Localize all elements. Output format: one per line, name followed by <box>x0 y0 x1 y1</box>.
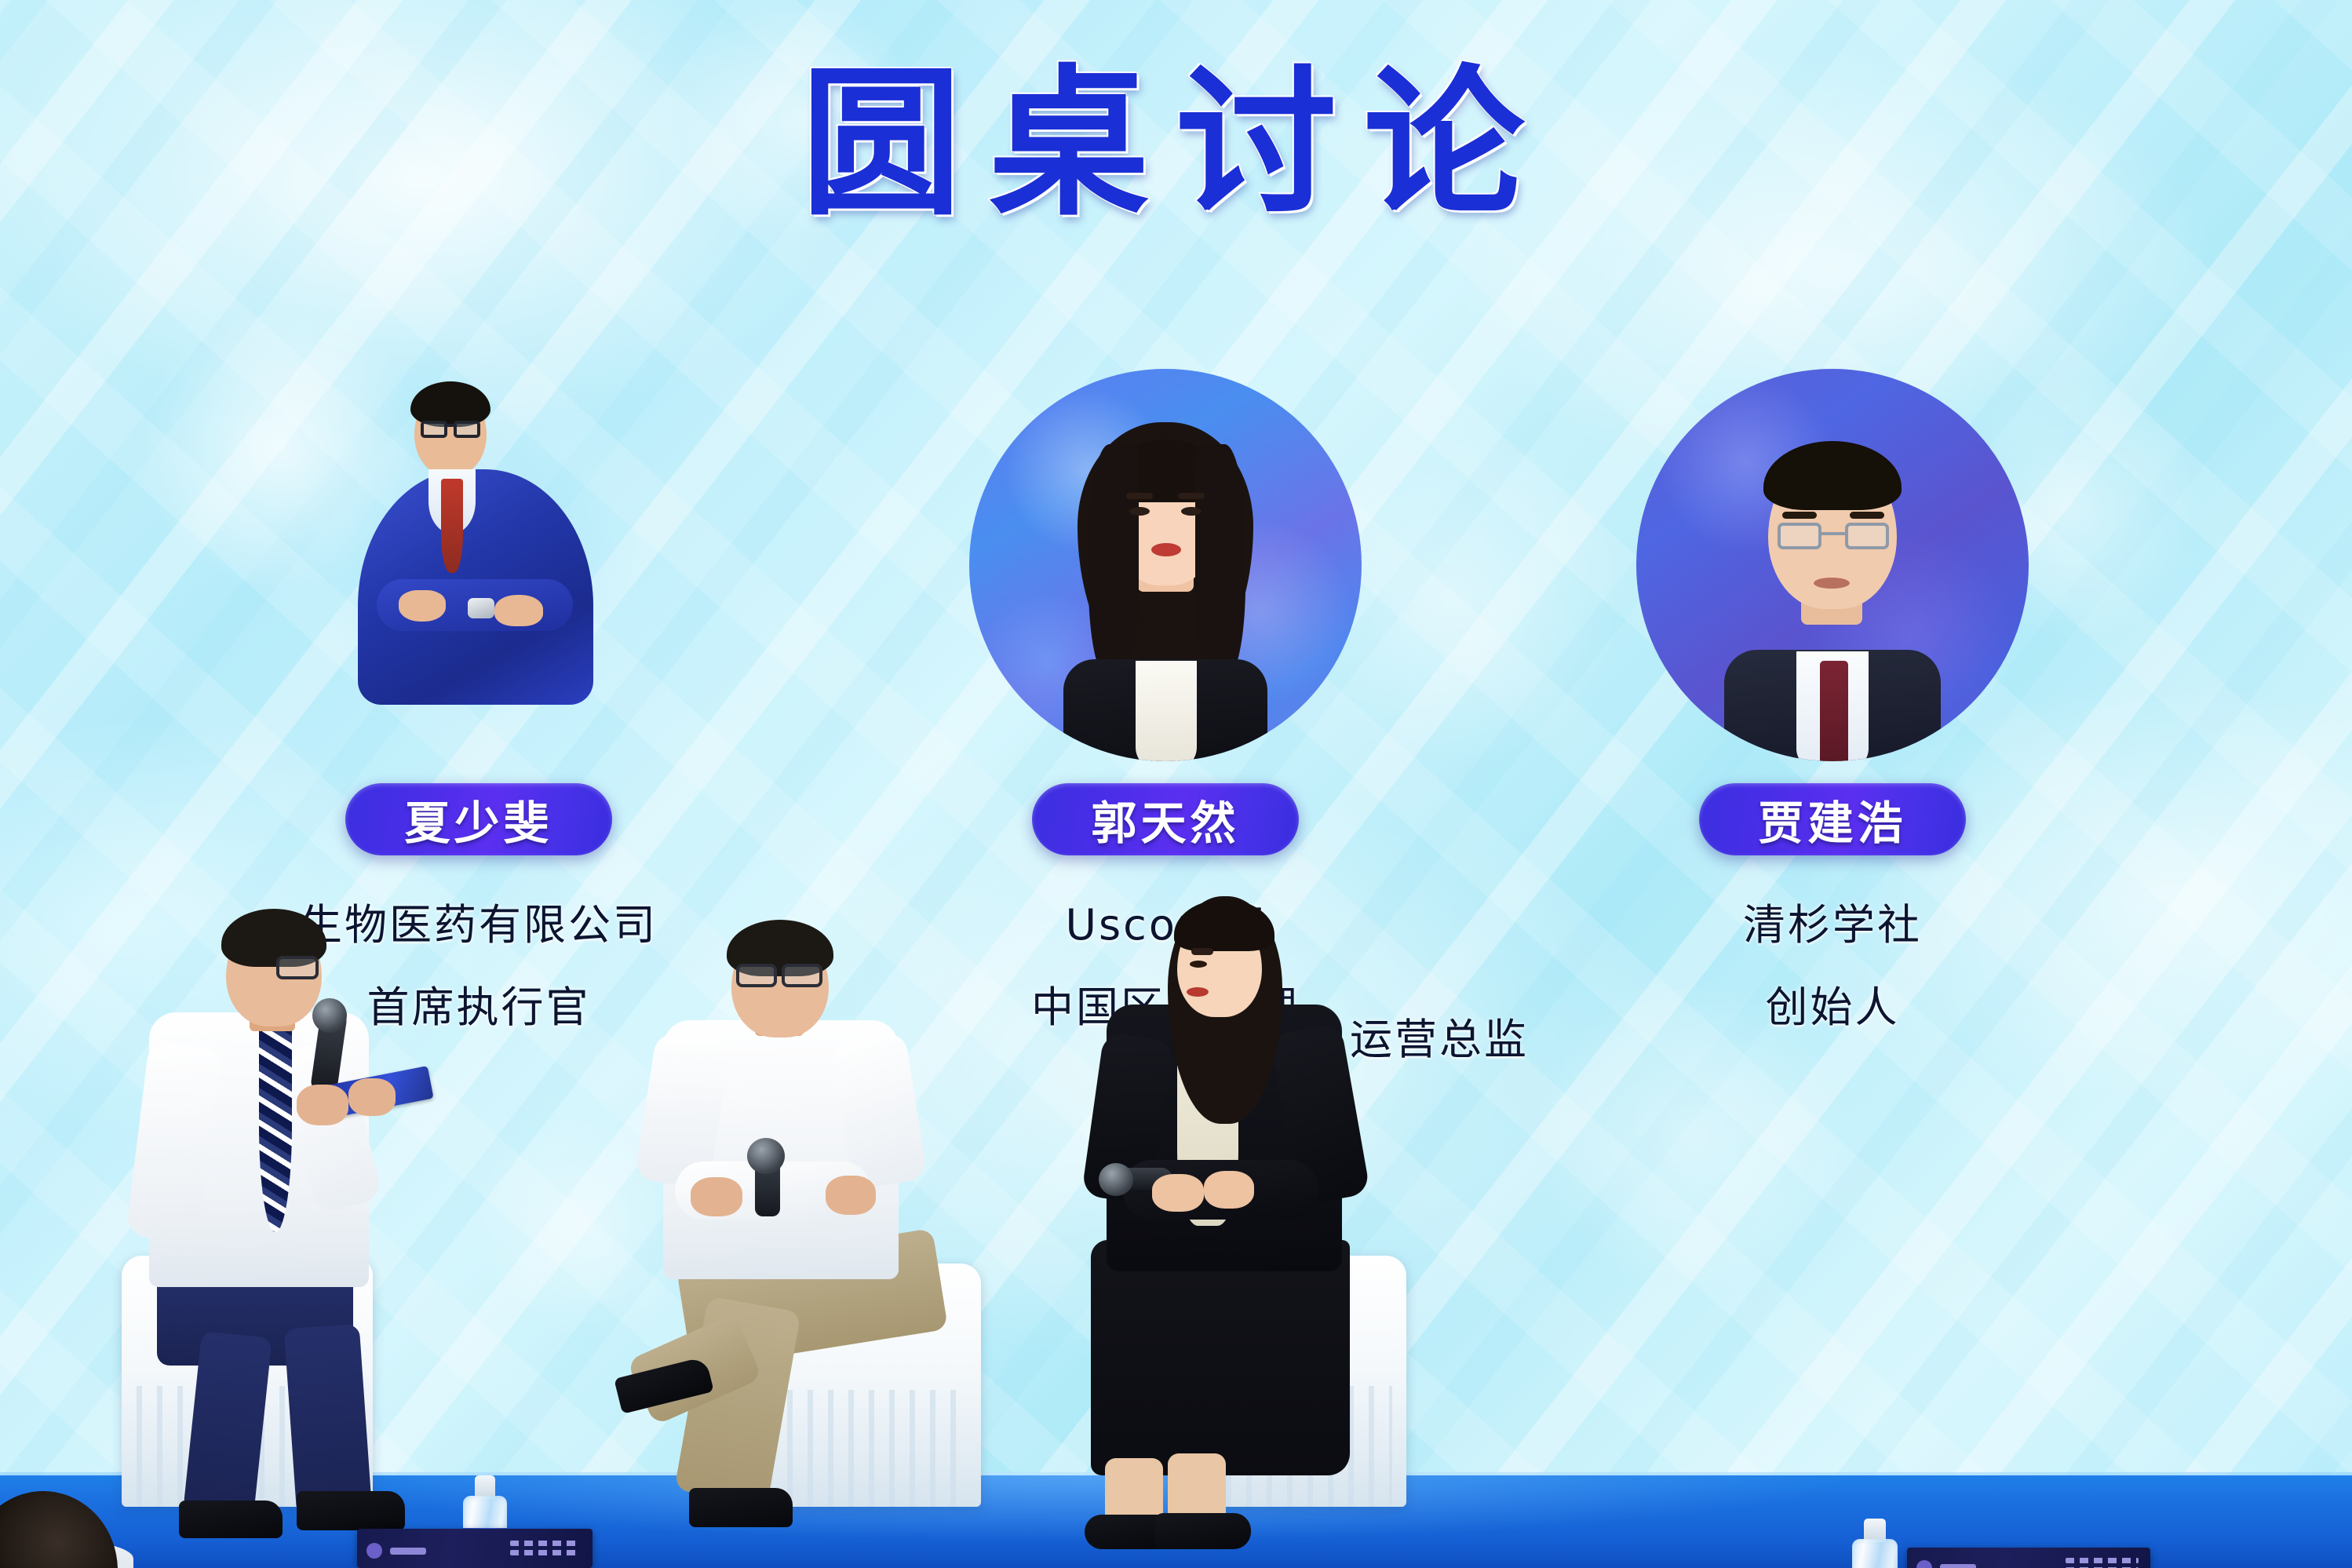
panelist1-hand-left <box>691 1177 742 1216</box>
panelist2-eye <box>1190 961 1207 968</box>
avatar-1 <box>969 369 1362 761</box>
speaker-name-2: 贾建浩 <box>1758 786 1906 852</box>
speaker-name-1: 郭天然 <box>1091 786 1239 852</box>
panelist2-microphone-head <box>1099 1163 1133 1196</box>
portrait2-glasses-bridge <box>1821 532 1845 535</box>
portrait0-hand-left <box>399 590 446 622</box>
placard-text-row <box>2066 1558 2139 1563</box>
panelist2-brow <box>1191 948 1213 955</box>
portrait0-tie <box>441 479 463 573</box>
placard-text-row <box>510 1550 581 1555</box>
panelist1-hand-right <box>826 1176 876 1215</box>
speaker-card-1: 郭天然 Uscom康 中国区总经理 <box>930 369 1401 1034</box>
portrait0-hand-right <box>494 595 543 626</box>
portrait1-brow-left <box>1126 493 1153 499</box>
panelist2-skirt <box>1091 1240 1350 1475</box>
avatar-2 <box>1636 369 2029 761</box>
panelist0-tie <box>259 1020 292 1232</box>
avatar-0 <box>283 369 675 761</box>
portrait2-hair <box>1763 441 1902 510</box>
occluded-speaker-role: 运营总监 <box>1350 1005 1836 1067</box>
panelist1-shoe-floor <box>689 1488 793 1527</box>
panelist0-shoe-left <box>179 1501 283 1538</box>
water-bottle-right <box>1852 1519 1898 1568</box>
portrait2-glasses-left <box>1778 523 1821 549</box>
bottle-body-right <box>1852 1539 1898 1568</box>
stage-scene: 圆桌讨论 夏少斐 生物医药有限公司 首席执行官 <box>0 0 2352 1568</box>
speaker-name-0: 夏少斐 <box>404 786 552 852</box>
placard-text-row <box>510 1541 581 1546</box>
placard-left-logo-marks <box>366 1543 426 1559</box>
portrait1-eye-right <box>1181 507 1202 516</box>
table-placard-right <box>1907 1548 2150 1568</box>
placard-bar-mark <box>390 1548 426 1555</box>
portrait1-hair-right <box>1195 444 1245 680</box>
panelist1-glasses-right <box>782 964 822 987</box>
portrait0-glasses-bridge <box>446 424 457 427</box>
panelist0-glasses <box>276 956 319 979</box>
avatar-circle-2 <box>1636 369 2029 761</box>
name-badge-1: 郭天然 <box>1032 783 1299 855</box>
speaker-card-2: 贾建浩 清杉学社 创始人 <box>1597 369 2068 1034</box>
placard-dot-icon <box>1916 1560 1932 1568</box>
portrait1-blouse <box>1136 661 1197 761</box>
placard-dot-icon <box>366 1543 382 1559</box>
panelist2-shoe-right <box>1155 1513 1251 1549</box>
name-badge-0: 夏少斐 <box>345 783 612 855</box>
panelist2-mouth <box>1187 987 1209 997</box>
panelist2-hand-left <box>1152 1174 1204 1212</box>
speaker-org-2: 清杉学社 <box>1597 890 2068 952</box>
portrait2-tie <box>1820 661 1848 761</box>
portrait0-watch <box>468 598 494 618</box>
panelist0-microphone-head <box>312 998 347 1033</box>
occluded-role-text: 运营总监 <box>1350 1005 1836 1067</box>
table-placard-left <box>357 1529 593 1568</box>
portrait2-mouth <box>1814 578 1850 589</box>
portrait0-glasses-right <box>454 421 480 438</box>
portrait1-brow-right <box>1178 493 1205 499</box>
portrait0-glasses-left <box>421 421 447 438</box>
panelist0-hand-right <box>348 1078 396 1116</box>
panelist0-shin-right <box>284 1324 373 1517</box>
panelist2-hand-right <box>1204 1171 1254 1209</box>
panelist1-glasses-left <box>736 964 777 987</box>
panelist0-hand-left <box>297 1085 348 1125</box>
placard-right-text-marks <box>2066 1558 2139 1568</box>
portrait1-mouth <box>1151 543 1181 556</box>
panelist0-shoe-right <box>297 1491 405 1530</box>
speaker-org-1: Uscom康 <box>930 890 1401 952</box>
portrait1-eye-left <box>1129 507 1150 516</box>
page-title: 圆桌讨论 <box>0 64 2352 225</box>
portrait1-hair-left <box>1088 444 1139 680</box>
panelist1-microphone-head <box>747 1138 785 1174</box>
placard-left-text-marks <box>510 1541 581 1559</box>
portrait2-brow-left <box>1782 512 1817 519</box>
portrait2-glasses-right <box>1845 523 1889 549</box>
name-badge-2: 贾建浩 <box>1699 783 1966 855</box>
avatar-circle-1 <box>969 369 1362 761</box>
placard-right-logo-marks <box>1916 1560 1976 1568</box>
portrait2-brow-right <box>1850 512 1884 519</box>
placard-bar-mark <box>1940 1564 1976 1568</box>
